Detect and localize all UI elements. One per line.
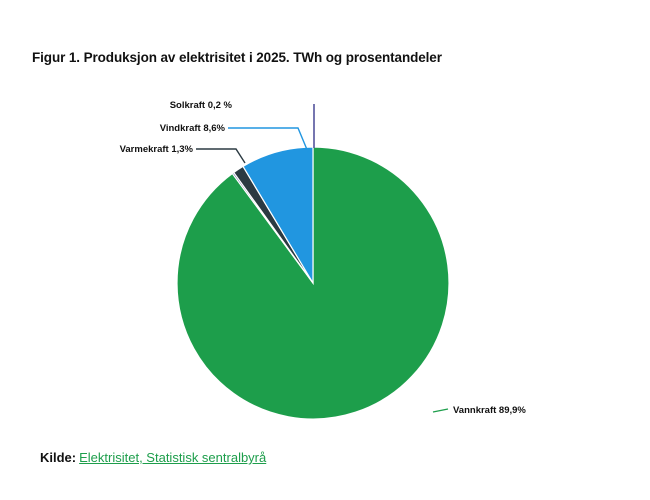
source-line: Kilde:Elektrisitet, Statistisk sentralby… (40, 450, 266, 465)
slice-label-solkraft: Solkraft 0,2 % (170, 100, 233, 111)
leader-line-vannkraft (433, 409, 448, 412)
slice-label-vindkraft: Vindkraft 8,6% (160, 123, 226, 134)
source-label: Kilde: (40, 450, 76, 465)
pie-chart: Solkraft 0,2 % Vindkraft 8,6% Varmekraft… (0, 0, 650, 500)
slice-label-varmekraft: Varmekraft 1,3% (120, 144, 194, 155)
leader-line-varmekraft (196, 149, 245, 163)
figure-container: Figur 1. Produksjon av elektrisitet i 20… (0, 0, 650, 500)
slice-label-vannkraft: Vannkraft 89,9% (453, 405, 526, 416)
source-link[interactable]: Elektrisitet, Statistisk sentralbyrå (79, 450, 266, 465)
pie-slice-group (177, 147, 449, 419)
